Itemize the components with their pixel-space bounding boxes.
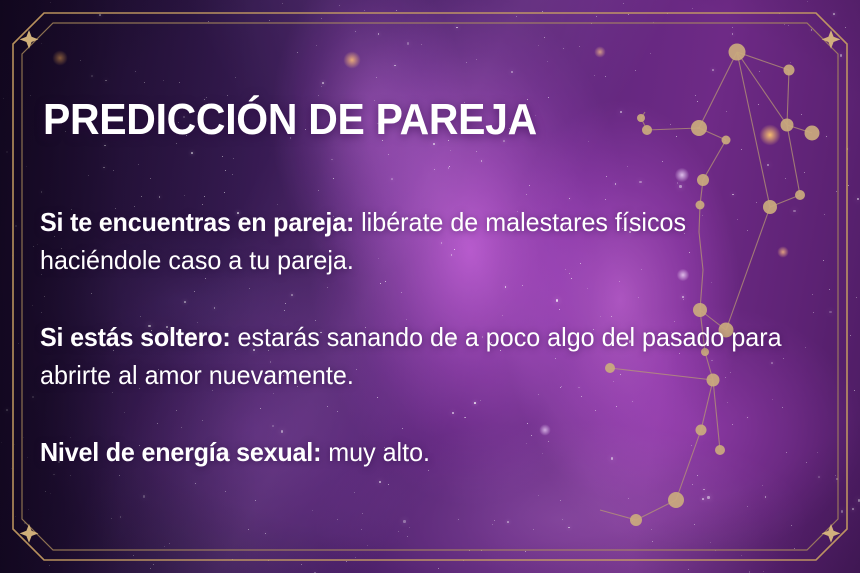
prediction-paragraph-en-pareja: Si te encuentras en pareja: libérate de …: [40, 203, 812, 279]
prediction-paragraph-energia-sexual: Nivel de energía sexual: muy alto.: [40, 433, 812, 471]
paragraph-lead-soltero: Si estás soltero:: [40, 322, 231, 352]
paragraph-body-energia-sexual: muy alto.: [321, 437, 430, 467]
paragraph-lead-en-pareja: Si te encuentras en pareja:: [40, 207, 354, 237]
horoscope-prediction-card: PREDICCIÓN DE PAREJA Si te encuentras en…: [0, 0, 860, 573]
paragraph-lead-energia-sexual: Nivel de energía sexual:: [40, 437, 321, 467]
prediction-paragraph-soltero: Si estás soltero: estarás sanando de a p…: [40, 318, 812, 394]
card-content: PREDICCIÓN DE PAREJA Si te encuentras en…: [0, 0, 860, 573]
page-title: PREDICCIÓN DE PAREJA: [43, 95, 537, 145]
